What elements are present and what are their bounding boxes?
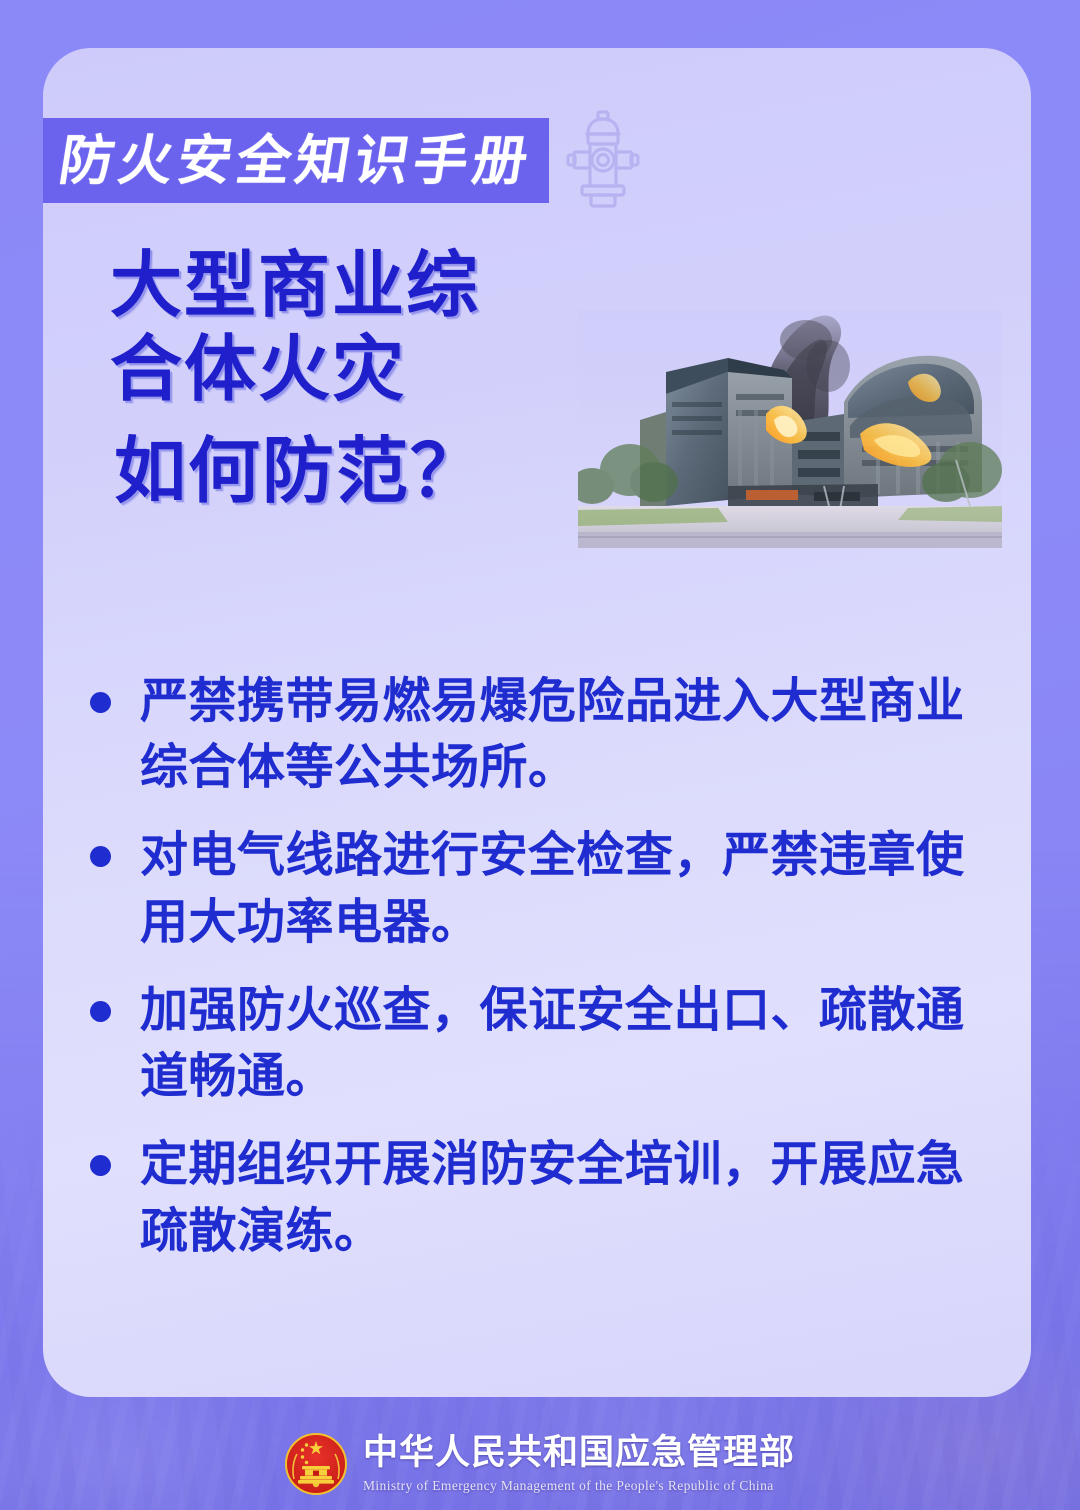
bullet-dot-icon — [90, 846, 111, 867]
list-item-text: 加强防火巡查，保证安全出口、疏散通道畅通。 — [140, 977, 1002, 1109]
header-badge-label: 防火安全知识手册 — [56, 134, 537, 188]
national-emblem-icon — [285, 1433, 347, 1495]
bullet-dot-icon — [90, 1155, 111, 1176]
fire-hydrant-icon — [560, 108, 646, 210]
bullet-dot-icon — [90, 1001, 111, 1022]
footer-branding: 中华人民共和国应急管理部 Ministry of Emergency Manag… — [0, 1418, 1080, 1510]
header-badge: 防火安全知识手册 — [43, 118, 549, 203]
bullet-dot-icon — [90, 692, 111, 713]
list-item: 对电气线路进行安全检查，严禁违章使用大功率电器。 — [82, 822, 1002, 954]
list-item-text: 定期组织开展消防安全培训，开展应急疏散演练。 — [140, 1131, 1002, 1263]
footer-org-cn: 中华人民共和国应急管理部 — [363, 1434, 795, 1473]
list-item: 定期组织开展消防安全培训，开展应急疏散演练。 — [82, 1131, 1002, 1263]
fire-safety-poster: 防火安全知识手册 大型商业综 合体火灾 — [0, 0, 1080, 1510]
list-item: 严禁携带易燃易爆危险品进入大型商业综合体等公共场所。 — [82, 668, 1002, 800]
title-line-2: 合体火灾 — [110, 332, 484, 406]
list-item-text: 对电气线路进行安全检查，严禁违章使用大功率电器。 — [140, 822, 1002, 954]
title-line-1: 大型商业综 — [110, 248, 484, 322]
page-title: 大型商业综 合体火灾 如何防范？ — [110, 248, 484, 518]
footer-org: 中华人民共和国应急管理部 Ministry of Emergency Manag… — [363, 1434, 795, 1494]
list-item: 加强防火巡查，保证安全出口、疏散通道畅通。 — [82, 977, 1002, 1109]
footer-org-en: Ministry of Emergency Management of the … — [363, 1478, 774, 1494]
list-item-text: 严禁携带易燃易爆危险品进入大型商业综合体等公共场所。 — [140, 668, 1002, 800]
title-line-3: 如何防范？ — [114, 434, 484, 508]
burning-mall-photo — [578, 310, 1002, 548]
safety-tips-list: 严禁携带易燃易爆危险品进入大型商业综合体等公共场所。 对电气线路进行安全检查，严… — [82, 668, 1002, 1286]
